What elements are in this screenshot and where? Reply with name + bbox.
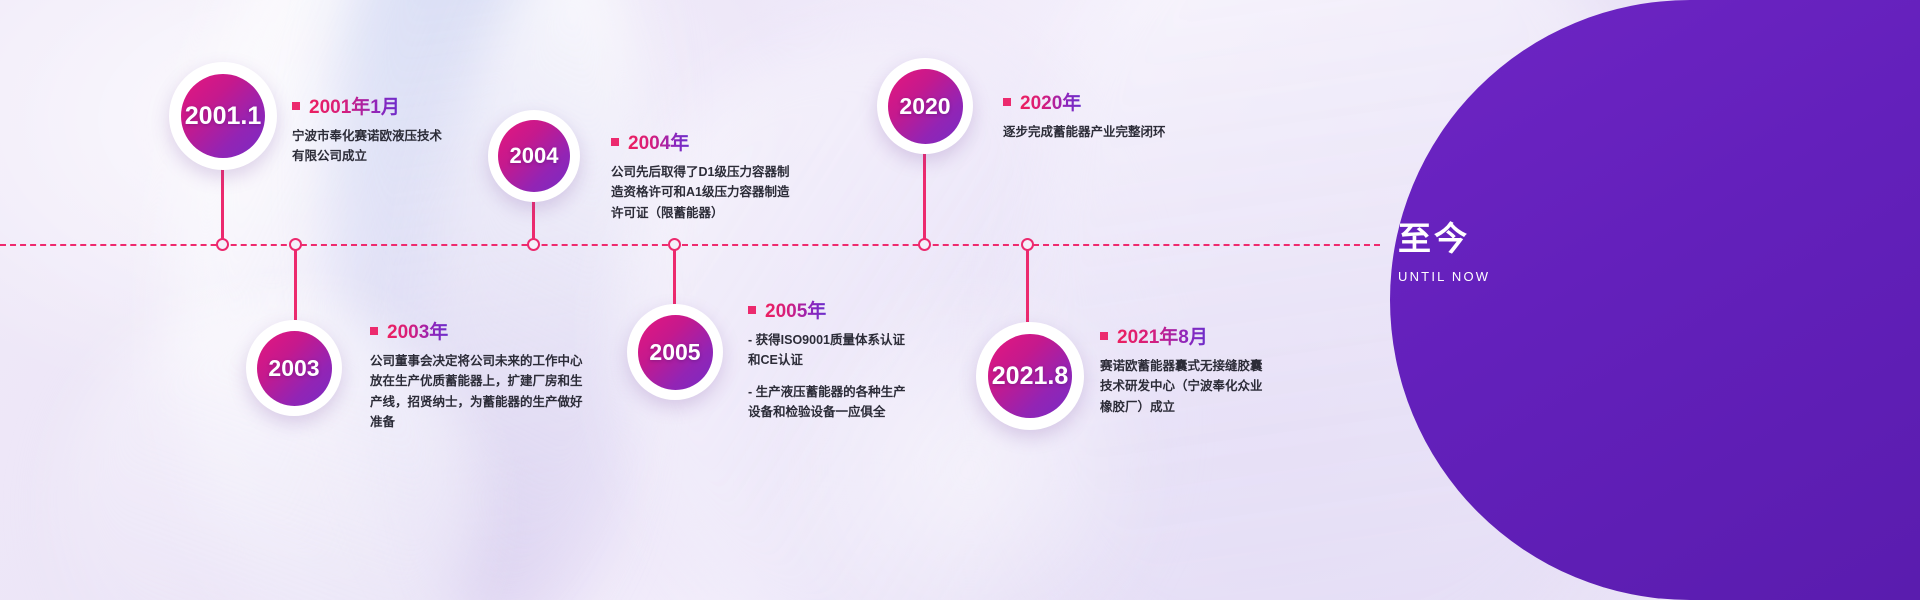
bullet-icon <box>370 327 378 335</box>
axis-dot-2020 <box>918 238 931 251</box>
entry-2005-paragraph-2: - 生产液压蓄能器的各种生产 设备和检验设备一应俱全 <box>748 382 906 423</box>
badge-2004[interactable]: 2004 <box>488 110 580 202</box>
axis-dot-2004 <box>527 238 540 251</box>
stem-2020 <box>923 142 926 246</box>
entry-2004-title: 2004年 <box>628 128 689 155</box>
entry-2003-head: 2003年 <box>370 317 583 344</box>
bullet-icon <box>611 138 619 146</box>
badge-2003-label: 2003 <box>257 331 332 406</box>
entry-2020-title: 2020年 <box>1020 88 1081 115</box>
background-swirl-3 <box>394 0 686 600</box>
stem-2001 <box>221 168 224 246</box>
entry-2003-paragraph-1: 公司董事会决定将公司未来的工作中心 放在生产优质蓄能器上，扩建厂房和生 产线，招… <box>370 351 583 432</box>
axis-dot-2021 <box>1021 238 1034 251</box>
entry-2001: 2001年1月 宁波市奉化赛诺欧液压技术 有限公司成立 <box>292 92 442 167</box>
entry-2005: 2005年 - 获得ISO9001质量体系认证 和CE认证 - 生产液压蓄能器的… <box>748 296 906 422</box>
entry-2005-paragraph-1: - 获得ISO9001质量体系认证 和CE认证 <box>748 330 906 371</box>
entry-2004-head: 2004年 <box>611 128 789 155</box>
badge-2021[interactable]: 2021.8 <box>976 322 1084 430</box>
bullet-icon <box>292 102 300 110</box>
badge-2003[interactable]: 2003 <box>246 320 342 416</box>
stem-2021 <box>1026 244 1029 322</box>
entry-2020-paragraph-1: 逐步完成蓄能器产业完整闭环 <box>1003 122 1166 142</box>
timeline-infographic: 2001.1 2003 2004 2005 2020 2021.8 2001年1… <box>0 0 1920 600</box>
entry-2021: 2021年8月 赛诺欧蓄能器囊式无接缝胶囊 技术研发中心（宁波奉化众业 橡胶厂）… <box>1100 322 1263 417</box>
until-now-zh-label: 至今 <box>1398 212 1490 260</box>
entry-2021-head: 2021年8月 <box>1100 322 1263 349</box>
until-now-panel <box>1390 0 1920 600</box>
entry-2004-paragraph-1: 公司先后取得了D1级压力容器制 造资格许可和A1级压力容器制造 许可证（限蓄能器… <box>611 162 789 223</box>
entry-2021-title: 2021年8月 <box>1117 322 1208 349</box>
badge-2020-label: 2020 <box>888 69 963 144</box>
bullet-icon <box>1003 98 1011 106</box>
badge-2004-label: 2004 <box>498 120 570 192</box>
timeline-axis <box>0 244 1380 246</box>
badge-2001[interactable]: 2001.1 <box>169 62 277 170</box>
until-now-en-label: UNTIL NOW <box>1398 269 1490 284</box>
badge-2021-label: 2021.8 <box>988 334 1072 418</box>
badge-2020[interactable]: 2020 <box>877 58 973 154</box>
entry-2005-head: 2005年 <box>748 296 906 323</box>
badge-2001-label: 2001.1 <box>181 74 265 158</box>
badge-2005-label: 2005 <box>638 315 713 390</box>
entry-2021-paragraph-1: 赛诺欧蓄能器囊式无接缝胶囊 技术研发中心（宁波奉化众业 橡胶厂）成立 <box>1100 356 1263 417</box>
entry-2001-title: 2001年1月 <box>309 92 400 119</box>
bullet-icon <box>748 306 756 314</box>
background-swirl-2 <box>279 0 682 600</box>
until-now-label-group: 至今 UNTIL NOW <box>1398 212 1490 284</box>
axis-dot-2005 <box>668 238 681 251</box>
entry-2003: 2003年 公司董事会决定将公司未来的工作中心 放在生产优质蓄能器上，扩建厂房和… <box>370 317 583 432</box>
axis-dot-2003 <box>289 238 302 251</box>
bullet-icon <box>1100 332 1108 340</box>
entry-2005-title: 2005年 <box>765 296 826 323</box>
entry-2001-paragraph-1: 宁波市奉化赛诺欧液压技术 有限公司成立 <box>292 126 442 167</box>
entry-2020-head: 2020年 <box>1003 88 1166 115</box>
axis-dot-2001 <box>216 238 229 251</box>
stem-2003 <box>294 244 297 320</box>
entry-2001-head: 2001年1月 <box>292 92 442 119</box>
entry-2020: 2020年 逐步完成蓄能器产业完整闭环 <box>1003 88 1166 142</box>
entry-2004: 2004年 公司先后取得了D1级压力容器制 造资格许可和A1级压力容器制造 许可… <box>611 128 789 223</box>
stem-2005 <box>673 244 676 304</box>
badge-2005[interactable]: 2005 <box>627 304 723 400</box>
entry-2003-title: 2003年 <box>387 317 448 344</box>
